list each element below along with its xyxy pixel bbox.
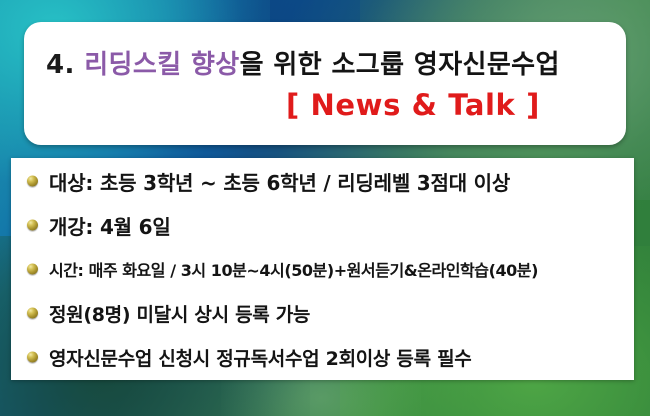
list-item-label: 개강: 4월 6일 [49, 211, 171, 240]
list-item-label: 영자신문수업 신청시 정규독서수업 2회이상 등록 필수 [49, 344, 471, 371]
course-details-list: 대상: 초등 3학년 ~ 초등 6학년 / 리딩레벨 3점대 이상 개강: 4월… [11, 166, 634, 372]
list-item: 정원(8명) 미달시 상시 등록 가능 [11, 298, 634, 328]
list-item: 개강: 4월 6일 [11, 210, 634, 240]
list-item: 시간: 매주 화요일 / 3시 10분~4시(50분)+원서듣기&온라인학습(4… [11, 254, 634, 284]
list-item-label: 대상: 초등 3학년 ~ 초등 6학년 / 리딩레벨 3점대 이상 [49, 167, 510, 196]
list-item: 영자신문수업 신청시 정규독서수업 2회이상 등록 필수 [11, 342, 634, 372]
details-panel: 대상: 초등 3학년 ~ 초등 6학년 / 리딩레벨 3점대 이상 개강: 4월… [11, 158, 634, 380]
title-rest: 을 위한 소그룹 영자신문수업 [240, 50, 560, 80]
slide-canvas: 4. 리딩스킬 향상을 위한 소그룹 영자신문수업 [ News & Talk … [0, 0, 650, 416]
title-card: 4. 리딩스킬 향상을 위한 소그룹 영자신문수업 [ News & Talk … [24, 22, 626, 145]
gold-sphere-bullet-icon [27, 308, 38, 319]
gold-sphere-bullet-icon [27, 176, 38, 187]
list-item-label: 시간: 매주 화요일 / 3시 10분~4시(50분)+원서듣기&온라인학습(4… [49, 257, 538, 281]
title-number: 4. [46, 50, 75, 80]
list-item: 대상: 초등 3학년 ~ 초등 6학년 / 리딩레벨 3점대 이상 [11, 166, 634, 196]
title-highlight: 리딩스킬 향상 [84, 50, 239, 80]
gold-sphere-bullet-icon [27, 220, 38, 231]
subtitle-news-and-talk: [ News & Talk ] [24, 88, 540, 122]
gold-sphere-bullet-icon [27, 264, 38, 275]
page-title: 4. 리딩스킬 향상을 위한 소그룹 영자신문수업 [46, 44, 560, 81]
list-item-label: 정원(8명) 미달시 상시 등록 가능 [49, 300, 310, 327]
gold-sphere-bullet-icon [27, 352, 38, 363]
